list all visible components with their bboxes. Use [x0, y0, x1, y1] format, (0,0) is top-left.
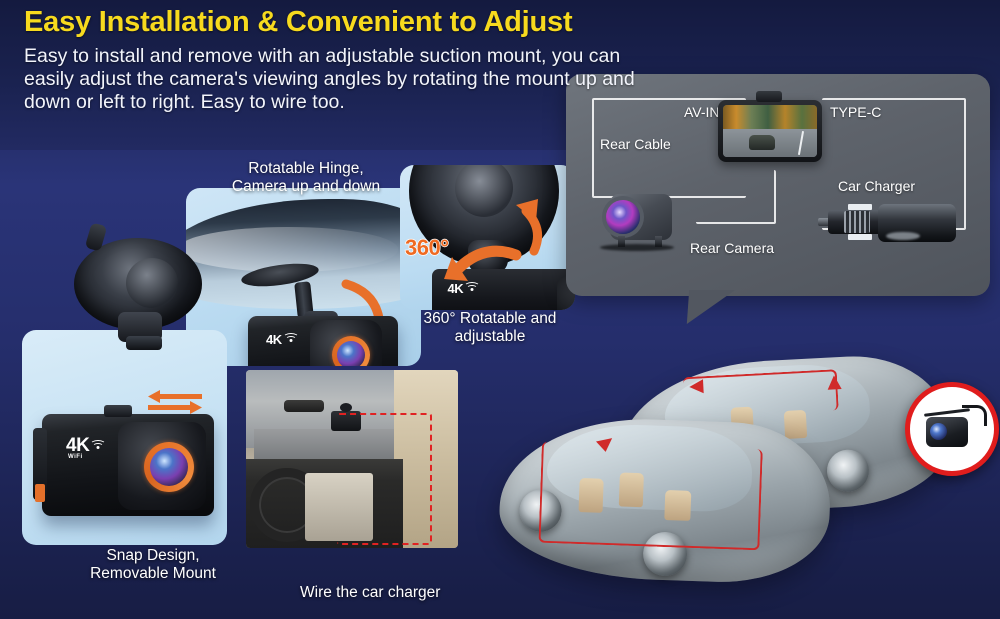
photo-car-interior — [246, 370, 458, 548]
label-car-charger: Car Charger — [838, 178, 915, 194]
charger-barrel — [878, 204, 956, 242]
suction-hub — [126, 258, 178, 308]
wifi-icon-main — [90, 437, 106, 449]
lens-glass — [337, 341, 365, 366]
photo-360-rotatable: 360° 4K — [400, 165, 575, 310]
header-block: Easy Installation & Convenient to Adjust… — [24, 6, 664, 113]
display-mount — [756, 91, 782, 102]
screen-road-preview — [723, 105, 817, 157]
caption-360-rotatable: 360° Rotatable andadjustable — [392, 310, 588, 346]
mount-socket — [104, 405, 132, 417]
photo-snap-design: 4K WiFi — [22, 330, 227, 545]
car-charger-product — [818, 202, 968, 244]
rear-camera-shadow — [600, 244, 674, 251]
charger-band-top — [848, 204, 872, 210]
dashcam-unit-small: 4K — [248, 316, 398, 366]
label-rear-camera: Rear Camera — [690, 240, 774, 256]
orange-accent — [35, 484, 45, 502]
route-arrow-lower-icon — [497, 414, 832, 585]
page-title: Easy Installation & Convenient to Adjust — [24, 6, 664, 39]
mount-foot — [126, 336, 162, 350]
bracket-rear-camera — [696, 170, 776, 224]
snap-on-off-arrows-icon — [144, 388, 206, 416]
roadside-trees — [723, 105, 817, 129]
suction-mount-detached — [74, 238, 224, 353]
charger-ribs — [844, 211, 870, 233]
360-degree-badge: 360° — [405, 235, 449, 261]
car-cutaway-lower — [497, 414, 832, 585]
wire-route-dashed — [337, 413, 432, 545]
header-description: Easy to install and remove with an adjus… — [24, 45, 664, 113]
wifi-icon — [283, 330, 299, 342]
label-rear-cable: Rear Cable — [600, 136, 671, 152]
resolution-label-main: 4K — [66, 435, 89, 456]
dashcam-main-unit: 4K WiFi — [42, 414, 214, 516]
resolution-label: 4K — [266, 332, 282, 347]
rearview-mirror — [284, 400, 324, 412]
charger-band-bottom — [848, 234, 872, 240]
caption-wire-charger: Wire the car charger — [300, 584, 520, 602]
rear-camera-badge — [905, 382, 999, 476]
caption-rotatable-hinge: Rotatable Hinge,Camera up and down — [186, 160, 426, 196]
rear-camera-product — [604, 192, 676, 250]
car-ahead — [749, 135, 775, 150]
label-av-in: AV-IN — [684, 104, 720, 120]
rear-camera-lens — [606, 200, 640, 234]
label-type-c: TYPE-C — [830, 104, 881, 120]
dashcam-display-unit — [718, 100, 822, 162]
lens-glass-main — [150, 448, 188, 486]
product-feature-banner: Easy Installation & Convenient to Adjust… — [0, 0, 1000, 619]
wifi-text-label: WiFi — [68, 454, 83, 460]
badge-camera-lens — [930, 423, 947, 440]
caption-snap-design: Snap Design,Removable Mount — [58, 547, 248, 583]
speech-bubble-tail — [687, 290, 751, 324]
